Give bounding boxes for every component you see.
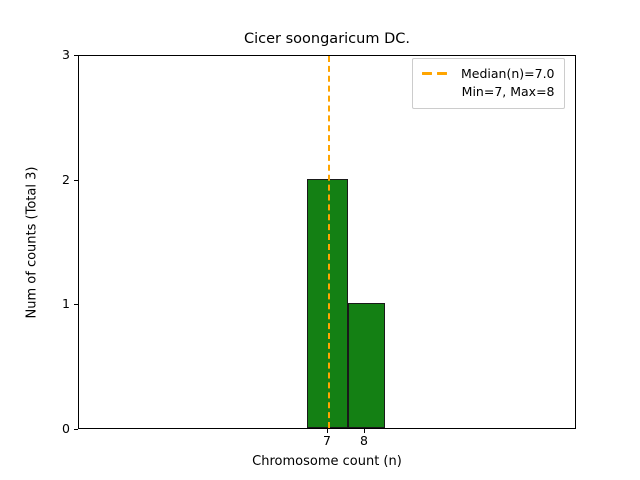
bar-n-8 bbox=[348, 303, 385, 428]
plot-inner bbox=[79, 56, 575, 428]
chart-title: Cicer soongaricum DC. bbox=[78, 31, 576, 47]
legend-entry-minmax: Min=7, Max=8 bbox=[461, 83, 555, 101]
plot-area bbox=[78, 55, 576, 429]
x-axis-label: Chromosome count (n) bbox=[78, 454, 576, 469]
chart-legend: Median(n)=7.0 Min=7, Max=8 bbox=[412, 58, 565, 109]
legend-entry-median: Median(n)=7.0 bbox=[461, 65, 555, 83]
y-axis-label: Num of counts (Total 3) bbox=[22, 55, 42, 429]
chart-figure: Cicer soongaricum DC. 3 2 1 0 Num of cou… bbox=[0, 0, 640, 480]
x-tick-label-8: 8 bbox=[344, 435, 384, 448]
legend-text-block: Median(n)=7.0 Min=7, Max=8 bbox=[461, 65, 555, 101]
legend-dashed-line-icon bbox=[422, 65, 452, 82]
x-tick-label-7: 7 bbox=[307, 435, 347, 448]
y-axis-label-text: Num of counts (Total 3) bbox=[25, 166, 40, 318]
y-tick-mark-0 bbox=[74, 429, 78, 430]
median-line bbox=[328, 56, 330, 428]
